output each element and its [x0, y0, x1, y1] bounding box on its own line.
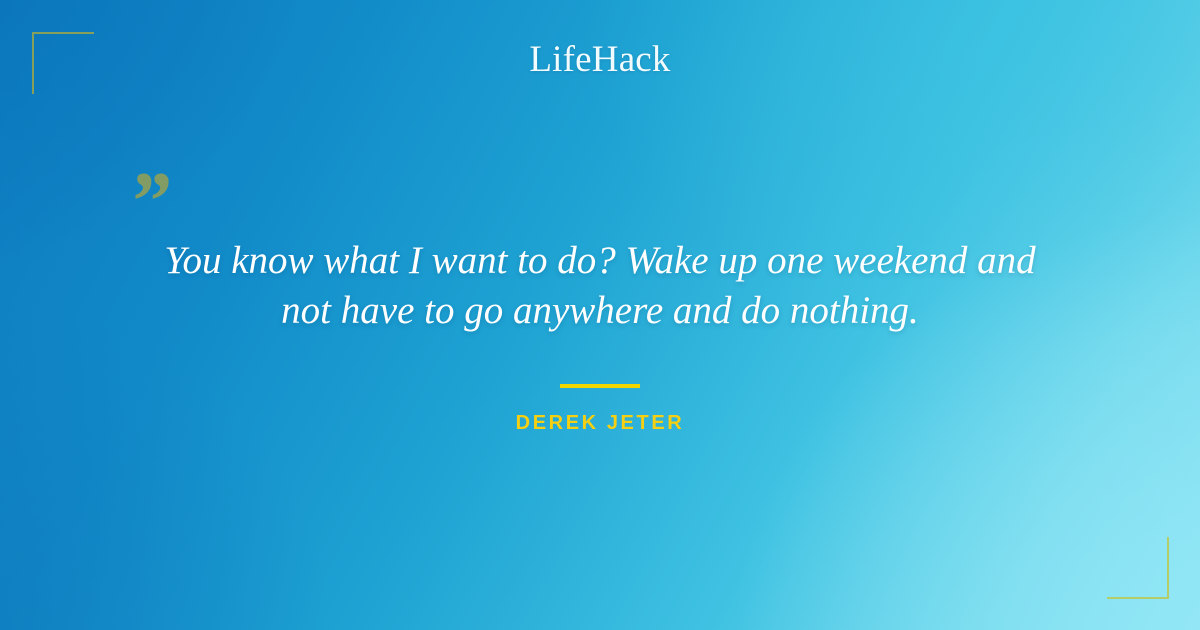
quote-text: You know what I want to do? Wake up one … — [100, 236, 1100, 336]
quote-line: You know what I want to do? Wake up one … — [100, 236, 1100, 286]
author-divider — [560, 384, 640, 388]
quotation-mark-icon: ” — [128, 160, 170, 244]
author-name: DEREK JETER — [0, 412, 1200, 435]
quote-card: LifeHack ” You know what I want to do? W… — [0, 0, 1200, 630]
brand-logo: LifeHack — [0, 38, 1200, 81]
quote-line: not have to go anywhere and do nothing. — [100, 286, 1100, 336]
corner-bracket-bottom-right-icon — [1107, 537, 1169, 599]
